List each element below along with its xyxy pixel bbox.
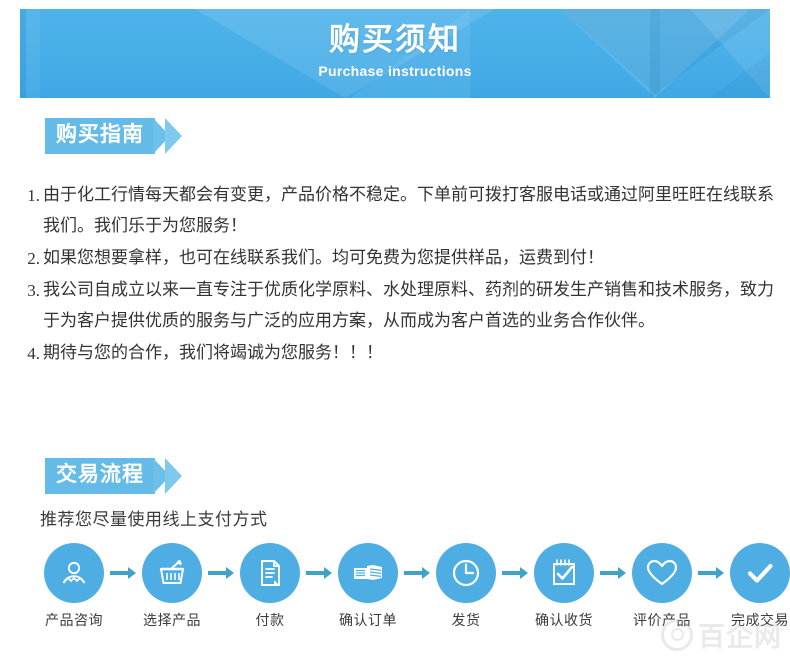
list-item: 1. 由于化工行情每天都会有变更，产品价格不稳定。下单前可拨打客服电话或通过阿里… bbox=[18, 180, 780, 242]
flow-step-shipping: 发货 bbox=[430, 543, 502, 630]
flow-step-label: 评价产品 bbox=[633, 610, 691, 630]
document-icon bbox=[253, 556, 287, 590]
list-item: 4. 期待与您的合作，我们将竭诚为您服务！！！ bbox=[18, 338, 780, 369]
basket-icon bbox=[155, 556, 189, 590]
chevron-group-guide bbox=[158, 118, 182, 154]
list-item-text: 如果您想要拿样，也可在线联系我们。均可免费为您提供样品，运费到付！ bbox=[43, 243, 780, 274]
chevron-group-flow bbox=[158, 458, 182, 494]
flow-subtitle: 推荐您尽量使用线上支付方式 bbox=[40, 505, 268, 530]
flow-step-circle bbox=[534, 543, 594, 603]
chevron-right-icon bbox=[165, 458, 182, 494]
flow-step-circle bbox=[142, 543, 202, 603]
transaction-flow: 产品咨询 选择产品 付款 bbox=[38, 543, 752, 630]
section-heading-flow-label: 交易流程 bbox=[45, 458, 155, 494]
flow-step-circle bbox=[632, 543, 692, 603]
clipboard-check-icon bbox=[547, 556, 581, 590]
flow-step-label: 完成交易 bbox=[731, 610, 789, 630]
flow-step-confirm-receipt: 确认收货 bbox=[528, 543, 600, 630]
section-heading-guide: 购买指南 bbox=[45, 118, 182, 154]
flow-step-label: 确认订单 bbox=[339, 610, 397, 630]
list-item-number: 2. bbox=[18, 243, 43, 274]
flow-step-circle bbox=[338, 543, 398, 603]
list-item-number: 1. bbox=[18, 180, 43, 242]
flow-step-select-product: 选择产品 bbox=[136, 543, 208, 630]
page-subtitle: Purchase instructions bbox=[20, 61, 770, 81]
flow-arrow-icon bbox=[600, 543, 626, 603]
flow-arrow-icon bbox=[698, 543, 724, 603]
money-stack-icon bbox=[350, 556, 386, 590]
flow-step-circle bbox=[436, 543, 496, 603]
list-item-number: 3. bbox=[18, 275, 43, 337]
heart-icon bbox=[645, 557, 679, 589]
list-item-text: 由于化工行情每天都会有变更，产品价格不稳定。下单前可拨打客服电话或通过阿里旺旺在… bbox=[43, 180, 780, 242]
flow-arrow-icon bbox=[208, 543, 234, 603]
flow-step-label: 发货 bbox=[452, 610, 481, 630]
flow-step-circle bbox=[240, 543, 300, 603]
flow-step-label: 选择产品 bbox=[143, 610, 201, 630]
flow-step-label: 确认收货 bbox=[535, 610, 593, 630]
list-item-number: 4. bbox=[18, 338, 43, 369]
chevron-right-icon bbox=[165, 118, 182, 154]
list-item: 2. 如果您想要拿样，也可在线联系我们。均可免费为您提供样品，运费到付！ bbox=[18, 243, 780, 274]
flow-step-circle bbox=[44, 543, 104, 603]
flow-arrow-icon bbox=[404, 543, 430, 603]
flow-step-label: 付款 bbox=[256, 610, 285, 630]
list-item-text: 我公司自成立以来一直专注于优质化学原料、水处理原料、药剂的研发生产销售和技术服务… bbox=[43, 275, 780, 337]
flow-step-payment: 付款 bbox=[234, 543, 306, 630]
person-icon bbox=[57, 556, 91, 590]
flow-step-product-inquiry: 产品咨询 bbox=[38, 543, 110, 630]
flow-step-rate-product: 评价产品 bbox=[626, 543, 698, 630]
section-heading-flow: 交易流程 bbox=[45, 458, 182, 494]
flow-arrow-icon bbox=[502, 543, 528, 603]
check-icon bbox=[743, 556, 777, 590]
flow-arrow-icon bbox=[110, 543, 136, 603]
flow-step-complete: 完成交易 bbox=[724, 543, 790, 630]
banner-text-group: 购买须知 Purchase instructions bbox=[20, 21, 770, 81]
list-item: 3. 我公司自成立以来一直专注于优质化学原料、水处理原料、药剂的研发生产销售和技… bbox=[18, 275, 780, 337]
flow-step-label: 产品咨询 bbox=[45, 610, 103, 630]
section-heading-guide-label: 购买指南 bbox=[45, 118, 155, 154]
flow-step-confirm-order: 确认订单 bbox=[332, 543, 404, 630]
guide-list: 1. 由于化工行情每天都会有变更，产品价格不稳定。下单前可拨打客服电话或通过阿里… bbox=[18, 180, 780, 370]
flow-arrow-icon bbox=[306, 543, 332, 603]
list-item-text: 期待与您的合作，我们将竭诚为您服务！！！ bbox=[43, 338, 780, 369]
flow-step-circle bbox=[730, 543, 790, 603]
page-banner: 购买须知 Purchase instructions bbox=[20, 9, 770, 98]
page-title: 购买须知 bbox=[20, 21, 770, 59]
clock-icon bbox=[449, 556, 483, 590]
